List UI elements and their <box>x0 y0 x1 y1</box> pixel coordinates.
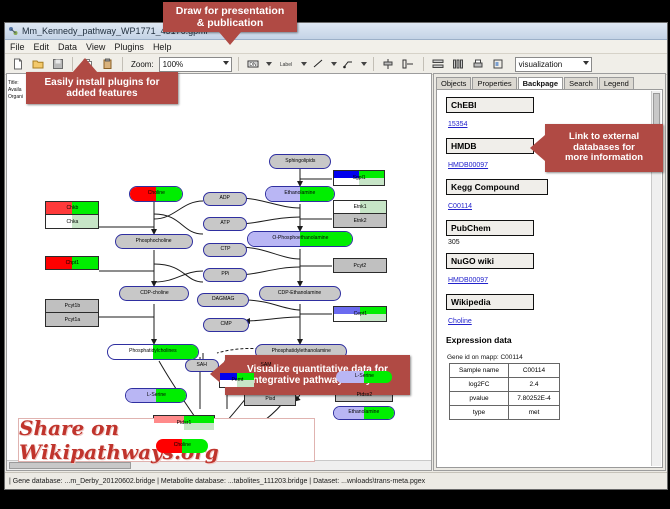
expression-data-title: Expression data <box>446 335 662 345</box>
exp-value: 7.80252E-4 <box>509 392 560 406</box>
db-header-chebi: ChEBI <box>446 97 534 113</box>
legend-icon[interactable] <box>490 56 507 73</box>
menu-help[interactable]: Help <box>153 42 172 52</box>
save-icon[interactable] <box>49 56 66 73</box>
gene-pcyt2[interactable]: Pcyt2 <box>333 258 387 273</box>
tab-search[interactable]: Search <box>564 77 598 89</box>
node-ethanolamine-bottom[interactable]: Ethanolamine <box>333 406 395 420</box>
zoom-combobox[interactable]: 100% <box>159 57 232 72</box>
interaction-icon[interactable] <box>340 56 357 73</box>
db-link-kegg[interactable]: C00114 <box>448 203 472 210</box>
chevron-down-icon[interactable] <box>331 62 337 66</box>
node-choline-top[interactable]: Choline <box>129 186 183 202</box>
gene-label: Chpt1 <box>65 260 79 266</box>
gene-pemt[interactable]: Pemt <box>219 372 255 388</box>
node-phosphatidylcholines[interactable]: Phosphatidylcholines <box>107 344 199 360</box>
db-header-kegg: Kegg Compound <box>446 179 548 195</box>
visualization-value: visualization <box>519 60 563 69</box>
pathvisio-icon <box>8 26 18 36</box>
gene-row[interactable]: Pcyt1b <box>46 300 98 313</box>
callout-plugins-arrow <box>72 58 98 73</box>
chevron-down-icon[interactable] <box>301 62 307 66</box>
gene-row[interactable]: Pemt <box>220 373 254 387</box>
node-choline-selected[interactable]: Choline <box>155 438 209 454</box>
node-label: DAGMAG <box>212 297 234 302</box>
gene-label: Ptdsr1 <box>177 420 192 426</box>
gene-label: Etnk1 <box>354 204 367 210</box>
menu-data[interactable]: Data <box>58 42 77 52</box>
window-titlebar: Mm_Kennedy_pathway_WP1771_45176.gpml <box>5 23 667 40</box>
gene-row[interactable]: Etnk2 <box>334 214 386 227</box>
node-ethanolamine-top[interactable]: Ethanolamine <box>265 186 335 202</box>
gene-row[interactable]: Chka <box>46 215 98 228</box>
chevron-down-icon[interactable] <box>361 62 367 66</box>
node-label: O-Phosphoethanolamine <box>272 236 328 241</box>
db-link-chebi[interactable]: 15354 <box>448 121 467 128</box>
db-header-wikipedia: Wikipedia <box>446 294 534 310</box>
new-icon[interactable] <box>9 56 26 73</box>
gene-row[interactable]: Sgpl1 <box>334 171 384 185</box>
node-label: L-Serine <box>354 374 373 379</box>
label-icon[interactable]: Label <box>275 56 297 73</box>
node-label: Phosphatidylcholines <box>129 349 177 354</box>
gene-row[interactable]: Pcyt2 <box>334 259 386 272</box>
pathway-canvas[interactable]: Title:AvailaOrgani <box>6 73 432 471</box>
node-label: Choline <box>173 443 190 448</box>
node-label: Ethanolamine <box>349 410 380 415</box>
gene-label: Chkb <box>66 205 78 211</box>
gene-sgpl1[interactable]: Sgpl1 <box>333 170 385 186</box>
stack-icon[interactable] <box>430 56 447 73</box>
db-link-hmdb[interactable]: HMDB00097 <box>448 162 488 169</box>
node-label: Choline <box>147 191 164 196</box>
node-o-phosphoethanolamine[interactable]: O-Phosphoethanolamine <box>247 231 353 247</box>
zoom-value: 100% <box>163 60 183 69</box>
node-label: Sphingolipids <box>285 159 315 164</box>
callout-draw: Draw for presentation & publication <box>163 2 297 32</box>
group-icon[interactable] <box>400 56 417 73</box>
exp-value: 2.4 <box>509 378 560 392</box>
menu-file[interactable]: File <box>10 42 25 52</box>
node-label: SAH <box>197 363 207 368</box>
gene-chpt1[interactable]: Chpt1 <box>45 256 99 270</box>
gene-row[interactable]: Chkb <box>46 202 98 215</box>
distribute-icon[interactable] <box>450 56 467 73</box>
toolbar-separator <box>373 57 374 71</box>
gene-label: Pemt <box>231 377 243 383</box>
node-phosphocholine[interactable]: Phosphocholine <box>115 234 193 249</box>
side-panel-tabs[interactable]: Objects Properties Backpage Search Legen… <box>436 76 663 89</box>
pathway-info-text: Title:AvailaOrgani <box>8 80 24 101</box>
node-cmp[interactable]: CMP <box>203 318 249 332</box>
statusbar: | Gene database: ...m_Derby_20120602.bri… <box>5 472 667 489</box>
datanode-icon[interactable]: DN <box>245 56 262 73</box>
exp-key: log2FC <box>450 378 509 392</box>
exp-key: Sample name <box>450 364 509 378</box>
node-label: SAM <box>261 363 272 368</box>
gene-label: Etnk2 <box>354 218 367 224</box>
node-label: Phosphocholine <box>136 239 172 244</box>
db-link-nugo[interactable]: HMDB00097 <box>448 277 488 284</box>
gene-label: Pisd <box>265 396 275 402</box>
node-cdp-ethanolamine[interactable]: CDP-Ethanolamine <box>259 286 341 301</box>
expression-gene-id: Gene id on mapp: C00114 <box>447 354 662 361</box>
exp-key: pvalue <box>450 392 509 406</box>
db-value-pubchem: 305 <box>448 239 662 246</box>
node-label: L-Serine <box>146 393 165 398</box>
gene-etnk-block[interactable]: Etnk1 Etnk2 <box>333 200 387 228</box>
tab-objects[interactable]: Objects <box>436 77 471 89</box>
chevron-down-icon[interactable] <box>223 61 229 65</box>
zoom-label: Zoom: <box>131 60 154 69</box>
exp-value: met <box>509 406 560 420</box>
align-icon[interactable] <box>380 56 397 73</box>
expression-table: Sample name C00114 log2FC 2.4 pvalue 7.8… <box>449 363 560 420</box>
table-row: log2FC 2.4 <box>450 378 560 392</box>
table-row: type met <box>450 406 560 420</box>
gene-chk-block[interactable]: Chkb Chka <box>45 201 99 229</box>
callout-links: Link to external databases for more info… <box>545 124 663 172</box>
statusbar-text: | Gene database: ...m_Derby_20120602.bri… <box>9 478 425 485</box>
gene-label: Pcyt2 <box>354 263 367 269</box>
node-label: PPi <box>221 272 229 277</box>
gene-label: Cept1 <box>353 311 367 317</box>
table-row: Sample name C00114 <box>450 364 560 378</box>
gene-row[interactable]: Ptdsr1 <box>154 416 214 430</box>
node-l-serine-1[interactable]: L-Serine <box>125 388 187 403</box>
chevron-down-icon[interactable] <box>266 62 272 66</box>
menu-plugins[interactable]: Plugins <box>114 42 144 52</box>
node-sphingolipids[interactable]: Sphingolipids <box>269 154 331 169</box>
node-ctp[interactable]: CTP <box>203 243 247 257</box>
node-label: ATP <box>220 221 229 226</box>
gene-row[interactable]: Cept1 <box>334 307 386 321</box>
node-label: CDP-choline <box>140 291 168 296</box>
toolbar-separator <box>122 57 123 71</box>
gene-label: Pcyt1b <box>64 303 79 309</box>
print-icon[interactable] <box>470 56 487 73</box>
gene-label: Chka <box>66 219 78 225</box>
svg-text:DN: DN <box>250 62 258 68</box>
gene-row[interactable]: Etnk1 <box>334 201 386 214</box>
visualization-combobox[interactable]: visualization <box>515 57 592 72</box>
tab-legend[interactable]: Legend <box>599 77 634 89</box>
node-label: Ethanolamine <box>285 191 316 196</box>
node-ppi[interactable]: PPi <box>203 268 247 282</box>
db-link-wikipedia[interactable]: Choline <box>448 318 472 325</box>
menu-view[interactable]: View <box>86 42 105 52</box>
node-atp[interactable]: ATP <box>203 217 247 231</box>
menu-edit[interactable]: Edit <box>34 42 50 52</box>
gene-ptdsr1[interactable]: Ptdsr1 <box>153 415 215 431</box>
node-label: CDP-Ethanolamine <box>278 291 321 296</box>
gene-cept1[interactable]: Cept1 <box>333 306 387 322</box>
gene-label: Pcyt1a <box>64 317 79 323</box>
tab-backpage[interactable]: Backpage <box>518 77 563 89</box>
open-icon[interactable] <box>29 56 46 73</box>
db-header-pubchem: PubChem <box>446 220 534 236</box>
db-header-nugo: NuGO wiki <box>446 253 534 269</box>
gene-label: Ptdss2 <box>356 392 371 398</box>
chevron-down-icon[interactable] <box>583 61 589 65</box>
screenshot-root: Mm_Kennedy_pathway_WP1771_45176.gpml Fil… <box>0 0 670 509</box>
node-label: CTP <box>220 247 230 252</box>
db-header-hmdb: HMDB <box>446 138 534 154</box>
gene-row[interactable]: Chpt1 <box>46 257 98 269</box>
callout-plugins: Easily install plugins for added feature… <box>26 72 178 104</box>
tab-properties[interactable]: Properties <box>472 77 516 89</box>
exp-value: C00114 <box>509 364 560 378</box>
callout-draw-arrow <box>219 32 241 45</box>
node-cdp-choline[interactable]: CDP-choline <box>119 286 189 301</box>
paste-icon[interactable] <box>99 56 116 73</box>
toolbar-separator <box>423 57 424 71</box>
line-icon[interactable] <box>310 56 327 73</box>
node-label: CMP <box>220 322 231 327</box>
gene-label: Sgpl1 <box>353 175 366 181</box>
toolbar-separator <box>238 57 239 71</box>
node-label: ADP <box>220 196 230 201</box>
node-adp[interactable]: ADP <box>203 192 247 206</box>
callout-links-arrow <box>530 135 545 161</box>
gene-row[interactable]: Pcyt1a <box>46 313 98 326</box>
table-row: pvalue 7.80252E-4 <box>450 392 560 406</box>
menubar[interactable]: File Edit Data View Plugins Help <box>5 40 667 54</box>
gene-pcyt1-block[interactable]: Pcyt1b Pcyt1a <box>45 299 99 327</box>
exp-key: type <box>450 406 509 420</box>
node-dagmag[interactable]: DAGMAG <box>197 293 249 307</box>
node-label: Phosphatidylethanolamine <box>271 349 330 354</box>
node-l-serine-2[interactable]: L-Serine <box>335 370 393 384</box>
svg-text:Label: Label <box>280 62 292 68</box>
